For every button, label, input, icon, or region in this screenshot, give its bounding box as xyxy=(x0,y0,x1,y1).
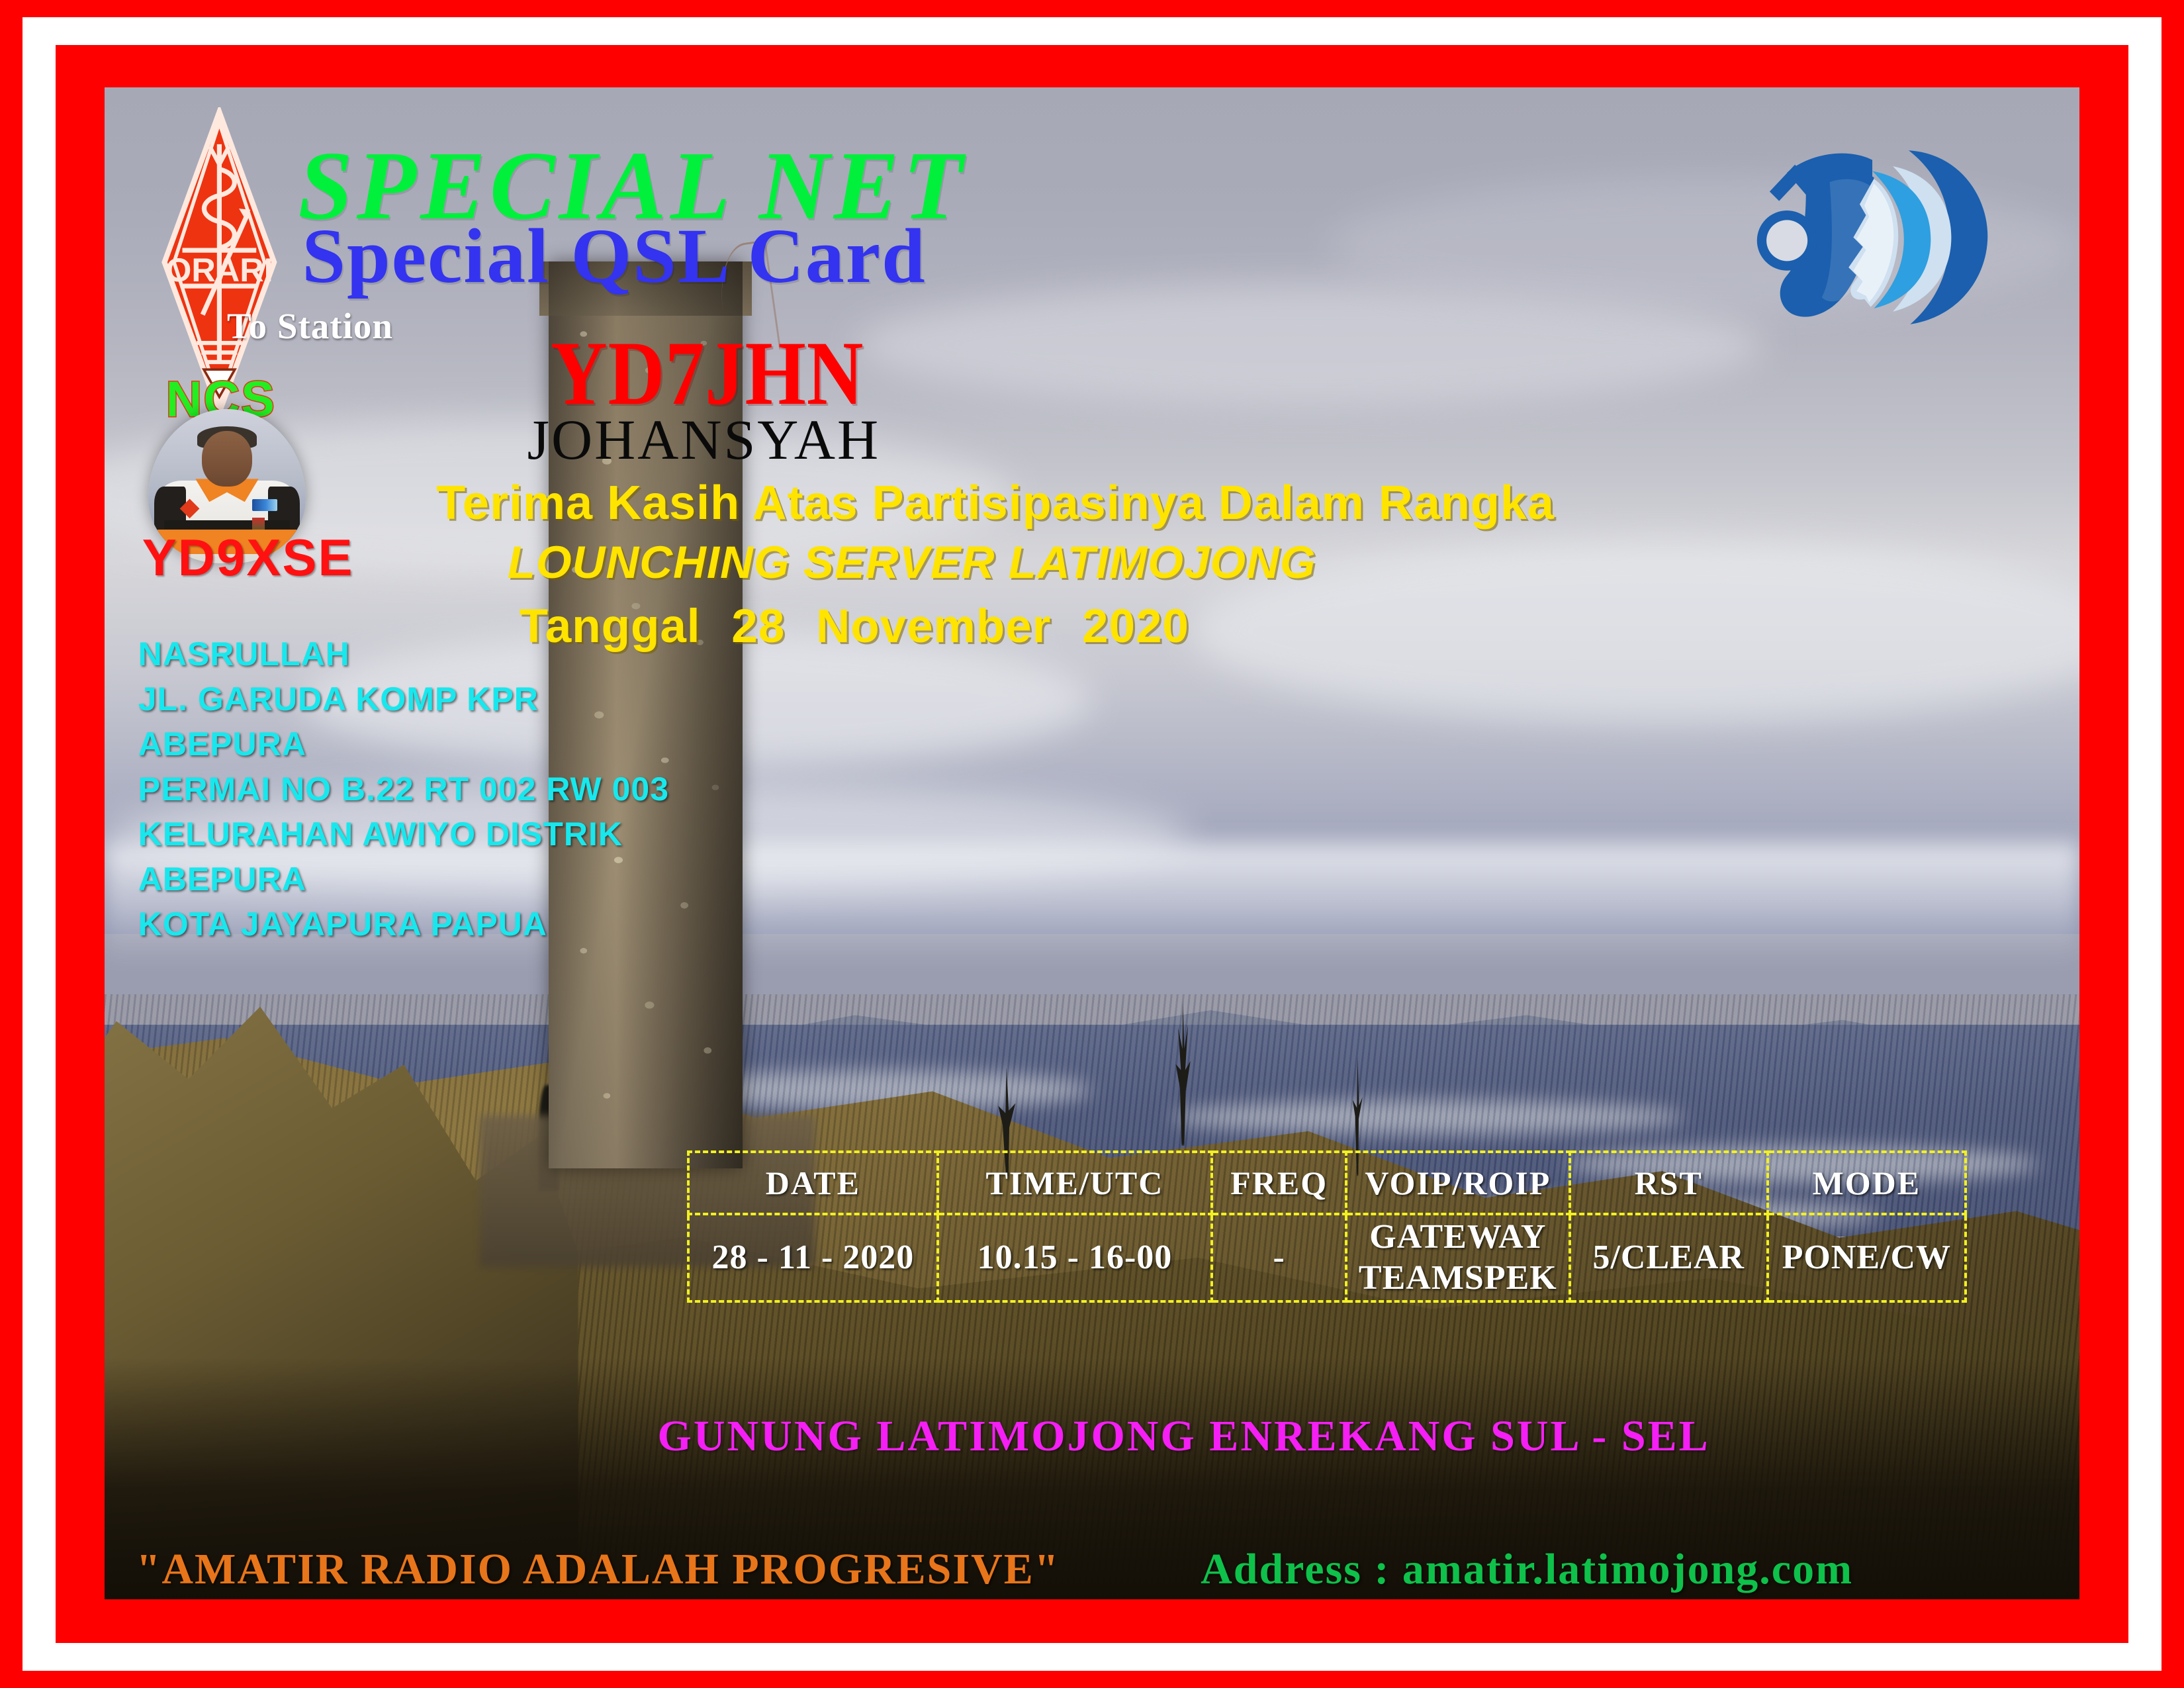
portrait-face xyxy=(202,431,252,487)
operator-name: JOHANSYAH xyxy=(527,411,881,468)
cell-mode: PONE/CW xyxy=(1768,1214,1966,1301)
footer-web-address: Address : amatir.latimojong.com xyxy=(1201,1548,1853,1591)
portrait-chest-logo xyxy=(252,499,277,512)
cell-freq: - xyxy=(1212,1214,1346,1301)
frame-white-gap: ORARI xyxy=(23,17,2161,1671)
column-header-date: DATE xyxy=(688,1152,937,1214)
background-photo: ORARI xyxy=(105,87,2079,1599)
address-line: NASRULLAH xyxy=(138,632,669,677)
footer-motto: "AMATIR RADIO ADALAH PROGRESIVE" xyxy=(136,1548,1060,1591)
orari-logo-text: ORARI xyxy=(165,251,273,289)
date-month: November xyxy=(816,600,1051,653)
headphone-profile-logo xyxy=(1754,118,1991,352)
address-line: PERMAI NO B.22 RT 002 RW 003 xyxy=(138,767,669,812)
address-line: KOTA JAYAPURA PAPUA xyxy=(138,902,669,947)
frame-inner-red: ORARI xyxy=(56,45,2128,1643)
to-station-label: To Station xyxy=(227,308,393,344)
page-subtitle-qsl-card: Special QSL Card xyxy=(302,217,926,295)
date-day: 28 xyxy=(731,600,785,653)
thanks-line: Terima Kasih Atas Partisipasinya Dalam R… xyxy=(436,479,1555,527)
station-callsign: YD7JHN xyxy=(551,328,864,419)
orari-logo: ORARI xyxy=(144,107,295,417)
location-line: GUNUNG LATIMOJONG ENREKANG SUL - SEL xyxy=(658,1415,1710,1458)
address-line: JL. GARUDA KOMP KPR xyxy=(138,677,669,722)
qso-log-table: DATE TIME/UTC FREQ VOIP/ROIP RST MODE 28… xyxy=(687,1150,1967,1303)
table-header-row: DATE TIME/UTC FREQ VOIP/ROIP RST MODE xyxy=(688,1152,1966,1214)
qsl-card: ORARI xyxy=(0,0,2184,1688)
column-header-freq: FREQ xyxy=(1212,1152,1346,1214)
ncs-callsign: YD9XSE xyxy=(142,532,354,583)
address-line: ABEPURA xyxy=(138,857,669,902)
address-line: ABEPURA xyxy=(138,722,669,767)
cell-voip-line2: TEAMSPEK xyxy=(1359,1259,1557,1297)
column-header-voip: VOIP/ROIP xyxy=(1346,1152,1570,1214)
column-header-mode: MODE xyxy=(1768,1152,1966,1214)
cell-voip-line1: GATEWAY xyxy=(1369,1218,1546,1256)
table-row: 28 - 11 - 2020 10.15 - 16-00 - GATEWAY T… xyxy=(688,1214,1966,1301)
column-header-rst: RST xyxy=(1570,1152,1768,1214)
date-year: 2020 xyxy=(1082,600,1189,653)
cell-voip: GATEWAY TEAMSPEK xyxy=(1346,1214,1570,1301)
mailing-address: NASRULLAH JL. GARUDA KOMP KPR ABEPURA PE… xyxy=(138,632,669,947)
event-title: LOUNCHING SERVER LATIMOJONG xyxy=(508,539,1316,585)
cell-time: 10.15 - 16-00 xyxy=(938,1214,1212,1301)
cell-date: 28 - 11 - 2020 xyxy=(688,1214,937,1301)
cell-rst: 5/CLEAR xyxy=(1570,1214,1768,1301)
address-line: KELURAHAN AWIYO DISTRIK xyxy=(138,812,669,857)
column-header-time: TIME/UTC xyxy=(938,1152,1212,1214)
